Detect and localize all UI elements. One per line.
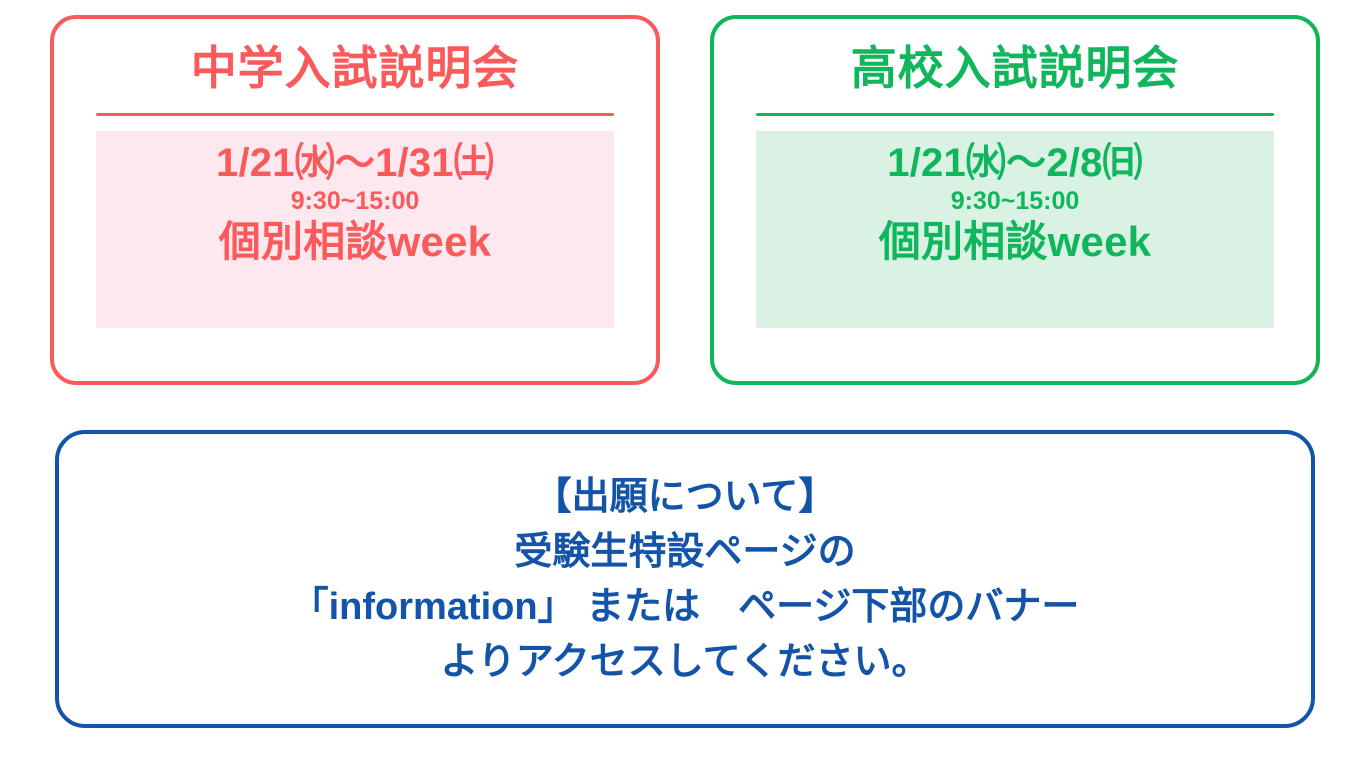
high-school-admission-briefing-card: 高校入試説明会 1/21㈬〜2/8㈰ 9:30~15:00 個別相談week — [710, 15, 1320, 385]
junior-high-date-range: 1/21㈬〜1/31㈯ — [216, 141, 494, 186]
high-school-date-range: 1/21㈬〜2/8㈰ — [887, 141, 1142, 186]
notice-line-information-or-banner: 「information」 または ページ下部のバナー — [291, 588, 1080, 626]
high-school-consultation-note: 個別相談week — [879, 218, 1151, 265]
notice-line-special-page: 受験生特設ページの — [514, 533, 855, 571]
high-school-card-detail-band: 1/21㈬〜2/8㈰ 9:30~15:00 個別相談week — [756, 131, 1274, 328]
junior-high-card-divider — [96, 113, 614, 116]
high-school-time-range: 9:30~15:00 — [951, 187, 1080, 216]
junior-high-card-title: 中学入試説明会 — [191, 45, 519, 91]
application-notice-card: 【出願について】 受験生特設ページの 「information」 または ページ… — [55, 430, 1315, 728]
junior-high-time-range: 9:30~15:00 — [291, 187, 420, 216]
notice-line-access-instruction: よりアクセスしてください。 — [440, 643, 929, 681]
junior-high-admission-briefing-card: 中学入試説明会 1/21㈬〜1/31㈯ 9:30~15:00 個別相談week — [50, 15, 660, 385]
high-school-card-title: 高校入試説明会 — [851, 45, 1179, 91]
poster-canvas: 中学入試説明会 1/21㈬〜1/31㈯ 9:30~15:00 個別相談week … — [0, 0, 1366, 768]
junior-high-card-detail-band: 1/21㈬〜1/31㈯ 9:30~15:00 個別相談week — [96, 131, 614, 328]
junior-high-consultation-note: 個別相談week — [219, 218, 491, 265]
high-school-card-divider — [756, 113, 1274, 116]
notice-heading: 【出願について】 — [534, 478, 837, 516]
